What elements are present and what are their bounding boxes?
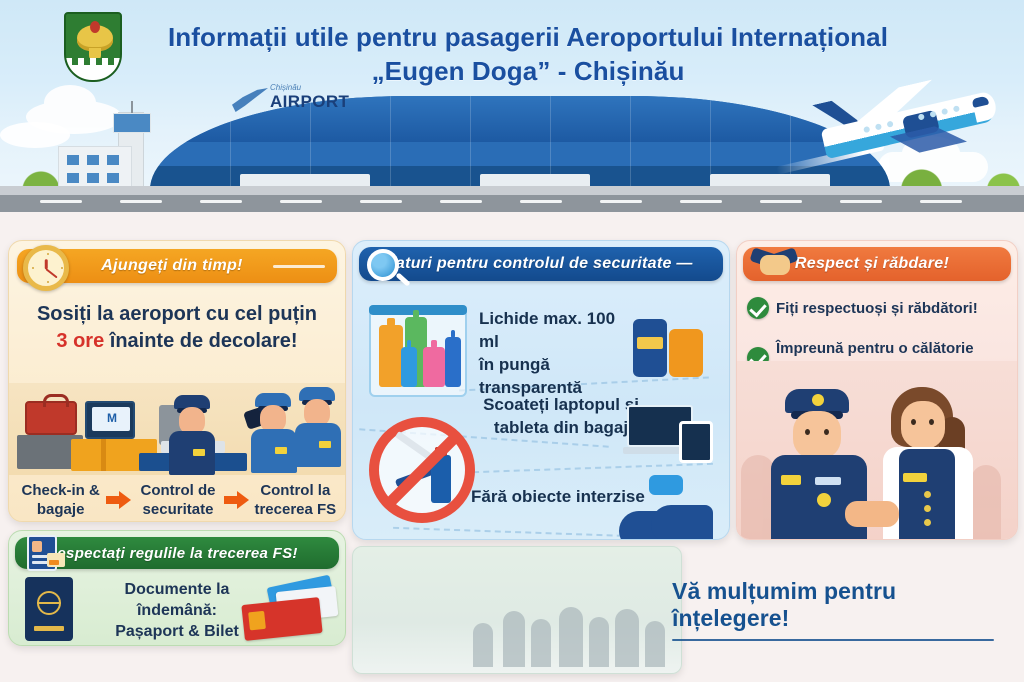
moldova-coat-of-arms-icon (64, 12, 122, 82)
thank-you-text: Vă mulțumim pentru înțelegere! (672, 578, 1016, 632)
officer-and-staff-illustration (737, 361, 1017, 539)
arrow-right-icon (224, 491, 250, 509)
checkin-monitor-icon: M (85, 401, 135, 439)
infographic-poster: Informații utile pentru pasagerii Aeropo… (0, 0, 1024, 682)
panel-security-tips: Sfaturi pentru controlul de securitate —… (352, 240, 730, 540)
checkin-flow-illustration: M (9, 383, 346, 475)
passport-icon (25, 577, 73, 641)
panel-fs-rules: Respectați regulile la trecerea FS! Docu… (8, 530, 346, 646)
annex-building-illustration (58, 146, 132, 190)
check-circle-icon (747, 297, 769, 319)
page-title: Informații utile pentru pasagerii Aeropo… (128, 20, 928, 88)
arrive-line-1: Sosiți la aeroport cu cel puțin (17, 301, 337, 327)
cloud-icon (0, 122, 70, 148)
sneakers-icon (619, 487, 719, 540)
flow-step-border: Control la trecerea FS (250, 481, 341, 519)
flow-step-security: Control de securitate (132, 481, 223, 519)
panel-arrive-in-time-header: Ajungeți din timp! (17, 249, 337, 283)
panel-respect-header: Respect și răbdare! (743, 247, 1011, 281)
fs-rules-line1: Documente la îndemână: (87, 579, 267, 621)
flow-step-border-line1: Control la (250, 481, 341, 500)
clock-icon (23, 245, 69, 291)
flow-step-security-line2: securitate (132, 500, 223, 519)
runway-ground (0, 186, 1024, 212)
respect-item-1-label: Fiți respectuoși și răbdători! (776, 299, 978, 318)
page-title-line-1: Informații utile pentru pasagerii Aeropo… (128, 20, 928, 54)
boarding-tickets-icon (243, 581, 339, 641)
chisinau-airport-logo: Chișinău AIRPORT (232, 82, 352, 122)
logo-airport-label: AIRPORT (270, 92, 349, 112)
flow-step-checkin: Check-in & bagaje (15, 481, 106, 519)
header-sky-banner: Informații utile pentru pasagerii Aeropo… (0, 0, 1024, 212)
panel-fs-rules-header: Respectați regulile la trecerea FS! (15, 537, 339, 569)
flow-step-security-line1: Control de (132, 481, 223, 500)
laptop-tablet-icon (627, 405, 713, 461)
fs-rules-body: Documente la îndemână: Pașaport & Bilet (9, 575, 345, 646)
thank-you-block: Vă mulțumim pentru înțelegere! (672, 578, 1016, 641)
arrive-hours-highlight: 3 ore (56, 330, 104, 352)
flow-step-checkin-line1: Check-in & (15, 481, 106, 500)
tip-liquids-text: Lichide max. 100 ml în pungă transparent… (479, 307, 639, 399)
toiletry-bottles-icon (633, 313, 719, 383)
no-prohibited-items-icon (369, 417, 475, 523)
panel-security-tips-title: Sfaturi pentru controlul de securitate — (359, 255, 723, 273)
list-item: Fiți respectuoși și răbdători! (747, 297, 1009, 319)
tip-electronics-text: Scoateți laptopul și tableta din bagaj (481, 393, 641, 439)
arrow-right-icon (106, 491, 132, 509)
fs-rules-message: Documente la îndemână: Pașaport & Bilet (87, 579, 267, 642)
liquids-bag-icon (369, 305, 467, 397)
flow-step-border-line2: trecerea FS (250, 500, 341, 519)
panel-respect-patience: Respect și răbdare! Fiți respectuoși și … (736, 240, 1018, 540)
fs-rules-line2: Pașaport & Bilet (87, 621, 267, 642)
handshake-icon (751, 247, 797, 281)
handshake-illustration (845, 501, 899, 527)
tip-electronics-line1: Scoateți laptopul și (481, 393, 641, 416)
suitcase-icon (25, 401, 77, 435)
logo-city-label: Chișinău (270, 83, 301, 92)
panel-arrive-in-time: Ajungeți din timp! Sosiți la aeroport cu… (8, 240, 346, 522)
tip-liquids-line1: Lichide max. 100 ml (479, 307, 639, 353)
arrive-line-2: 3 ore înainte de decolare! (17, 327, 337, 355)
checkin-flow-steps: Check-in & bagaje Control de securitate … (9, 477, 346, 522)
arrive-line-2-rest: înainte de decolare! (104, 330, 297, 352)
arrive-in-time-message: Sosiți la aeroport cu cel puțin 3 ore în… (9, 291, 345, 355)
security-tips-body: Lichide max. 100 ml în pungă transparent… (353, 287, 729, 540)
magnifier-icon (367, 249, 399, 281)
tip-electronics-line2: tableta din bagaj (481, 416, 641, 439)
header-rule (273, 265, 325, 268)
panel-security-tips-header: Sfaturi pentru controlul de securitate — (359, 247, 723, 281)
flow-step-checkin-line2: bagaje (15, 500, 106, 519)
thank-you-underline (672, 639, 994, 641)
officers-terminal-photo (352, 546, 682, 674)
airport-swoosh-icon (232, 88, 268, 112)
id-documents-icon (23, 535, 63, 573)
